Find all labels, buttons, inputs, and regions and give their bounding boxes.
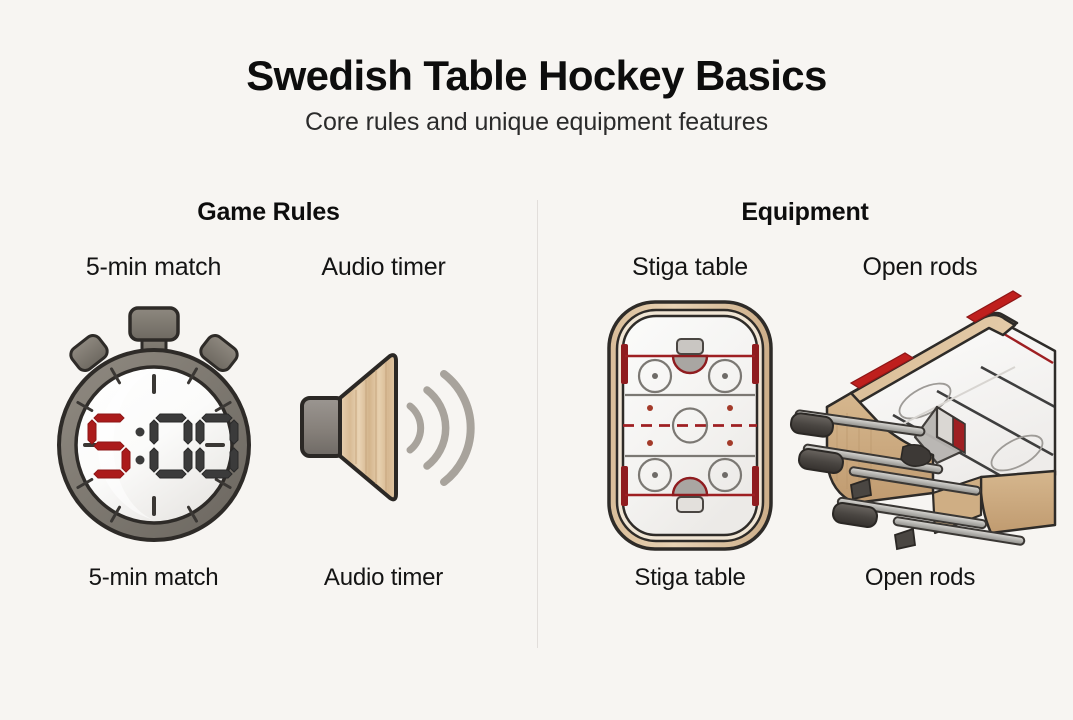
card-open-rods[interactable]: Open rods — [805, 253, 1035, 592]
card-art-stiga-table — [575, 290, 805, 560]
section-game-rules: Game Rules 5-min match — [0, 198, 537, 592]
card-top-label-five-min-match: 5-min match — [86, 253, 221, 282]
card-stiga-table[interactable]: Stiga table — [575, 253, 805, 592]
card-bottom-label-five-min-match: 5-min match — [89, 564, 219, 592]
section-equipment: Equipment Stiga table — [537, 198, 1073, 592]
card-top-label-stiga-table: Stiga table — [632, 253, 748, 282]
cards-game-rules: 5-min match — [0, 253, 537, 592]
card-art-open-rods — [805, 290, 1035, 560]
stopwatch-icon — [44, 300, 264, 550]
page-subtitle: Core rules and unique equipment features — [0, 108, 1073, 137]
hockey-rink-icon — [605, 298, 775, 553]
card-art-five-min-match — [39, 290, 269, 560]
card-audio-timer[interactable]: Audio timer — [269, 253, 499, 592]
speaker-icon — [294, 340, 474, 510]
section-title-game-rules: Game Rules — [0, 198, 537, 227]
card-top-label-audio-timer: Audio timer — [321, 253, 445, 282]
card-bottom-label-audio-timer: Audio timer — [324, 564, 443, 592]
table-rods-icon — [785, 295, 1055, 555]
card-bottom-label-stiga-table: Stiga table — [634, 564, 745, 592]
card-top-label-open-rods: Open rods — [863, 253, 978, 282]
section-title-equipment: Equipment — [537, 198, 1073, 227]
page-header: Swedish Table Hockey Basics Core rules a… — [0, 0, 1073, 137]
sections-container: Game Rules 5-min match — [0, 198, 1073, 592]
page-title: Swedish Table Hockey Basics — [0, 52, 1073, 99]
card-bottom-label-open-rods: Open rods — [865, 564, 975, 592]
cards-equipment: Stiga table — [537, 253, 1073, 592]
card-five-min-match[interactable]: 5-min match — [39, 253, 269, 592]
card-art-audio-timer — [269, 290, 499, 560]
